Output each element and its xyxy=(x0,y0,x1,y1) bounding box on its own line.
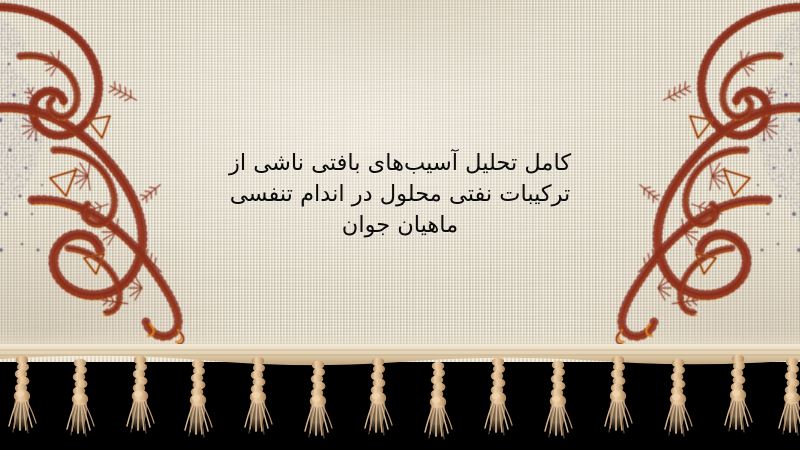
tassel-group xyxy=(9,355,800,439)
title-line-3: ماهیان جوان xyxy=(150,210,650,241)
title-line-2: ترکیبات نفتی محلول در اندام تنفسی xyxy=(150,179,650,210)
slide-title: کامل تحلیل آسیب‌های بافتی ناشی از ترکیبا… xyxy=(150,148,650,241)
tassel-fringe xyxy=(0,344,800,450)
slide-canvas: کامل تحلیل آسیب‌های بافتی ناشی از ترکیبا… xyxy=(0,0,800,450)
title-line-1: کامل تحلیل آسیب‌های بافتی ناشی از xyxy=(150,148,650,179)
